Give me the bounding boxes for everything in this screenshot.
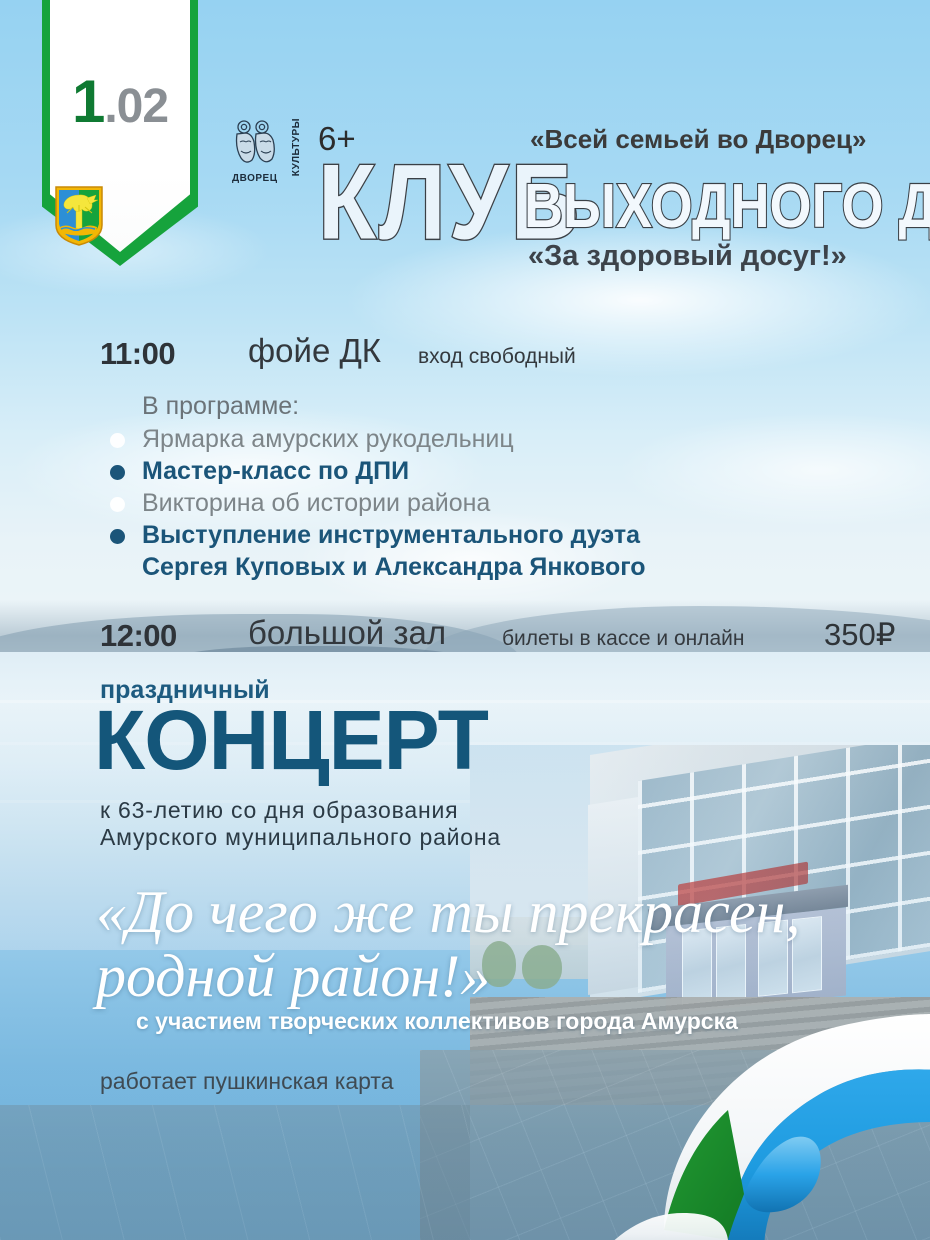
- session-1-time: 11:00: [100, 336, 175, 372]
- bullet-icon: [110, 529, 125, 544]
- program-list-item: Ярмарка амурских рукодельниц: [110, 424, 810, 454]
- program-item-continuation: Сергея Куповых и Александра Янкового: [110, 552, 810, 582]
- session-2-time: 12:00: [100, 618, 177, 654]
- program-item-label: Ярмарка амурских рукодельниц: [142, 425, 514, 453]
- event-date: 1.02: [42, 72, 198, 132]
- logo-label-culture: КУЛЬТУРЫ: [291, 118, 302, 176]
- tricolor-ribbon-decoration: [606, 998, 930, 1240]
- concert-subtitle-line-1: к 63-летию со дня образования: [100, 797, 501, 824]
- program-list-item: Выступление инструментального дуэта: [110, 520, 810, 550]
- title-secondary: ВЫХОДНОГО ДНЯ: [524, 175, 930, 238]
- session-1-place: фойе ДК: [248, 332, 381, 370]
- concert-quote-line-1: «До чего же ты прекрасен,: [96, 879, 800, 945]
- palace-of-culture-logo: ДВОРЕЦ КУЛЬТУРЫ: [232, 118, 300, 184]
- event-date-month: .02: [104, 80, 168, 133]
- program-list: Ярмарка амурских рукодельниц Мастер-клас…: [110, 424, 810, 582]
- concert-subtitle-line-2: Амурского муниципального района: [100, 824, 501, 851]
- logo-label-palace: ДВОРЕЦ: [232, 173, 278, 184]
- coat-of-arms-icon: [54, 185, 104, 247]
- ribbon-white-tail: [606, 1213, 728, 1240]
- program-item-label: Мастер-класс по ДПИ: [142, 457, 409, 485]
- session-2-price: 350₽: [824, 617, 895, 653]
- session-1-note: вход свободный: [418, 345, 576, 369]
- event-date-day: 1: [72, 68, 104, 135]
- concert-quote: «До чего же ты прекрасен, родной район!»: [96, 880, 856, 1008]
- pushkin-card-note: работает пушкинская карта: [100, 1068, 394, 1095]
- program-heading: В программе:: [142, 392, 299, 421]
- bullet-icon: [110, 497, 125, 512]
- program-item-label: Викторина об истории района: [142, 489, 490, 517]
- concert-subtitle: к 63-летию со дня образования Амурского …: [100, 797, 501, 851]
- session-2-note: билеты в кассе и онлайн: [502, 627, 744, 651]
- plaza-paving-left: [0, 1105, 470, 1240]
- program-list-item: Мастер-класс по ДПИ: [110, 456, 810, 486]
- poster-root: 1.02: [0, 0, 930, 1240]
- tagline-bottom: «За здоровый досуг!»: [528, 240, 847, 273]
- concert-title: КОНЦЕРТ: [94, 698, 488, 782]
- program-list-item: Викторина об истории района: [110, 488, 810, 518]
- session-2-place: большой зал: [248, 614, 446, 652]
- bullet-icon: [110, 465, 125, 480]
- theatre-masks-icon: [232, 118, 280, 170]
- bullet-icon: [110, 433, 125, 448]
- program-item-label: Выступление инструментального дуэта: [142, 521, 640, 549]
